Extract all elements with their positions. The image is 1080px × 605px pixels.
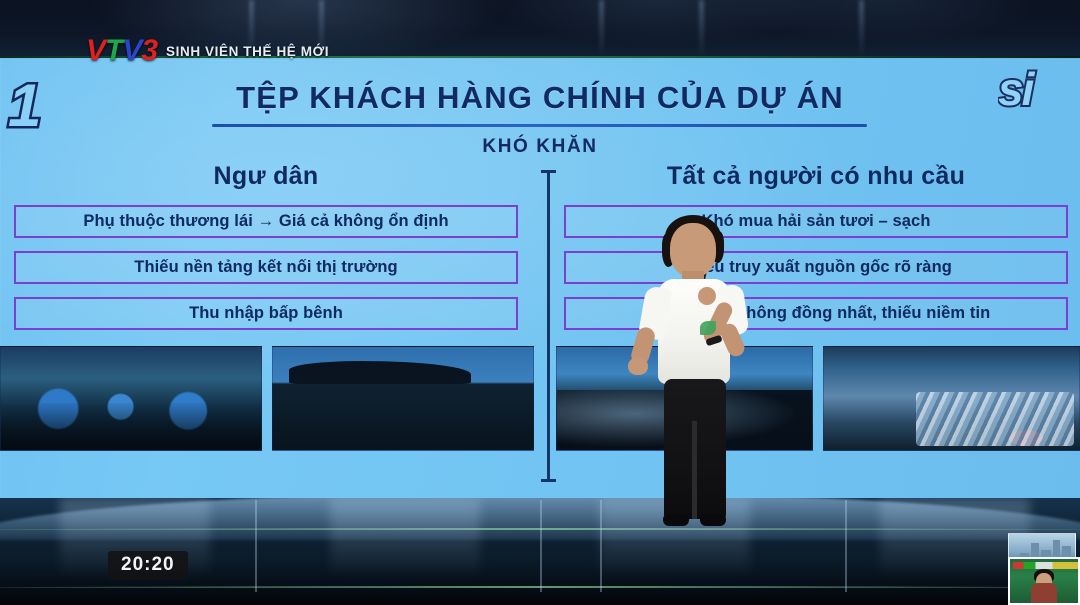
presenter-head [670, 223, 716, 277]
presentation-slide: 1 si TỆP KHÁCH HÀNG CHÍNH CỦA DỰ ÁN KHÓ … [0, 58, 1080, 498]
channel-branding: VTV3 SINH VIÊN THẾ HỆ MỚI [86, 34, 329, 68]
presenter-figure [632, 215, 762, 535]
logo-letter-t: T [105, 36, 122, 66]
list-item: Thiếu nền tảng kết nối thị trường [14, 251, 518, 284]
slide-photo-fish-market [823, 346, 1080, 451]
broadcast-timestamp: 20:20 [108, 551, 188, 580]
presenter-shirt-logo [700, 321, 716, 335]
list-item-label: Thu nhập bấp bênh [189, 304, 343, 323]
pip-presenter-thumbnail [1008, 557, 1080, 605]
floor-seam [600, 500, 602, 592]
list-item: Thu nhập bấp bênh [14, 297, 518, 330]
stage-light-streak [600, 0, 603, 58]
market-bowl-detail [1009, 430, 1043, 446]
stage-light-streak [860, 0, 863, 58]
presenter-hand-right [698, 287, 716, 305]
presenter-hand-left [628, 357, 648, 375]
title-underline [212, 124, 867, 127]
floor-seam [255, 500, 257, 592]
photo-strip-left [0, 346, 534, 451]
list-item: Phụ thuộc thương lái → Giá cả không ổn đ… [14, 205, 518, 238]
stage-light-streak [700, 0, 703, 58]
floor-reflection [330, 498, 480, 578]
slide-photo-fishermen-crowd [0, 346, 262, 451]
logo-letter-v2: V [122, 36, 141, 66]
slide-title: TỆP KHÁCH HÀNG CHÍNH CỦA DỰ ÁN [0, 80, 1080, 116]
presenter-trousers [664, 379, 726, 519]
logo-number-3: 3 [141, 36, 157, 66]
column-heading: Ngư dân [6, 162, 526, 191]
logo-letter-v1: V [86, 36, 105, 66]
vtv3-logo: VTV3 [86, 36, 157, 66]
divider-cap-top [541, 170, 556, 173]
broadcast-frame: VTV3 SINH VIÊN THẾ HỆ MỚI 1 si TỆP KHÁCH… [0, 0, 1080, 605]
column-fishermen: Ngư dân Phụ thuộc thương lái → Giá cả kh… [6, 162, 526, 343]
picture-in-picture-overlay[interactable] [996, 533, 1080, 605]
floor-seam [845, 500, 847, 592]
show-name-text: SINH VIÊN THẾ HỆ MỚI [166, 44, 329, 59]
list-item-label: Phụ thuộc thương lái → Giá cả không ổn đ… [83, 212, 448, 231]
presenter-shoe-right [700, 515, 726, 526]
floor-seam [540, 500, 542, 592]
column-divider [547, 170, 550, 482]
slide-subtitle: KHÓ KHĂN [0, 136, 1080, 158]
slide-photo-boat-dock [272, 346, 534, 451]
pip-color-bar [1013, 562, 1079, 569]
pip-person-body [1031, 583, 1057, 603]
presenter-shoe-left [663, 515, 689, 526]
divider-cap-bottom [541, 479, 556, 482]
list-item-label: Thiếu nền tảng kết nối thị trường [134, 258, 397, 277]
column-heading: Tất cả người có nhu cầu [556, 162, 1076, 191]
